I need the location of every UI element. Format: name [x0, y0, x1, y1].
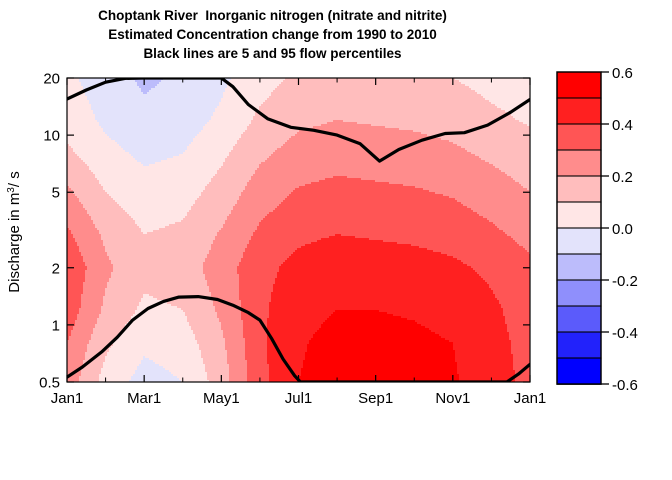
x-tick-label: Jul1 [285, 390, 313, 407]
y-tick-label: 5 [52, 185, 60, 202]
x-tick-label: Mar1 [127, 390, 161, 407]
contour-fill-layer [67, 78, 532, 383]
x-tick-label: May1 [203, 390, 240, 407]
figure-root: Choptank River Inorganic nitrogen (nitra… [0, 0, 672, 480]
colorbar-band[interactable] [557, 176, 601, 202]
colorbar-band[interactable] [557, 254, 601, 280]
y-axis-title: Discharge in m3/ s [6, 171, 23, 292]
x-tick-label: Jan1 [51, 390, 84, 407]
x-tick-label: Nov1 [435, 390, 470, 407]
colorbar-band[interactable] [557, 228, 601, 254]
colorbar-tick-label: 0.2 [612, 169, 633, 186]
colorbar-band[interactable] [557, 332, 601, 358]
colorbar-band[interactable] [557, 98, 601, 124]
colorbar-band[interactable] [557, 280, 601, 306]
contour-figure: 20105210.5 Jan1Mar1May1Jul1Sep1Nov1Jan1 … [0, 0, 672, 480]
colorbar-tick-label: -0.4 [612, 325, 638, 342]
colorbar-tick-label: 0.6 [612, 65, 633, 82]
y-tick-label: 0.5 [39, 375, 60, 392]
colorbar-tick-label: -0.6 [612, 377, 638, 394]
y-tick-label: 10 [43, 128, 60, 145]
colorbar-tick-label: -0.2 [612, 273, 638, 290]
y-tick-label: 20 [43, 71, 60, 88]
colorbar[interactable]: 0.60.40.20.0-0.2-0.4-0.6 [557, 65, 638, 394]
y-tick-label: 2 [52, 260, 60, 277]
y-tick-label: 1 [52, 317, 60, 334]
colorbar-tick-label: 0.4 [612, 117, 633, 134]
colorbar-band[interactable] [557, 358, 601, 384]
colorbar-band[interactable] [557, 150, 601, 176]
colorbar-band[interactable] [557, 72, 601, 98]
colorbar-band[interactable] [557, 306, 601, 332]
x-tick-label: Jan1 [514, 390, 547, 407]
colorbar-tick-label: 0.0 [612, 221, 633, 238]
colorbar-band[interactable] [557, 124, 601, 150]
colorbar-band[interactable] [557, 202, 601, 228]
x-tick-label: Sep1 [358, 390, 393, 407]
